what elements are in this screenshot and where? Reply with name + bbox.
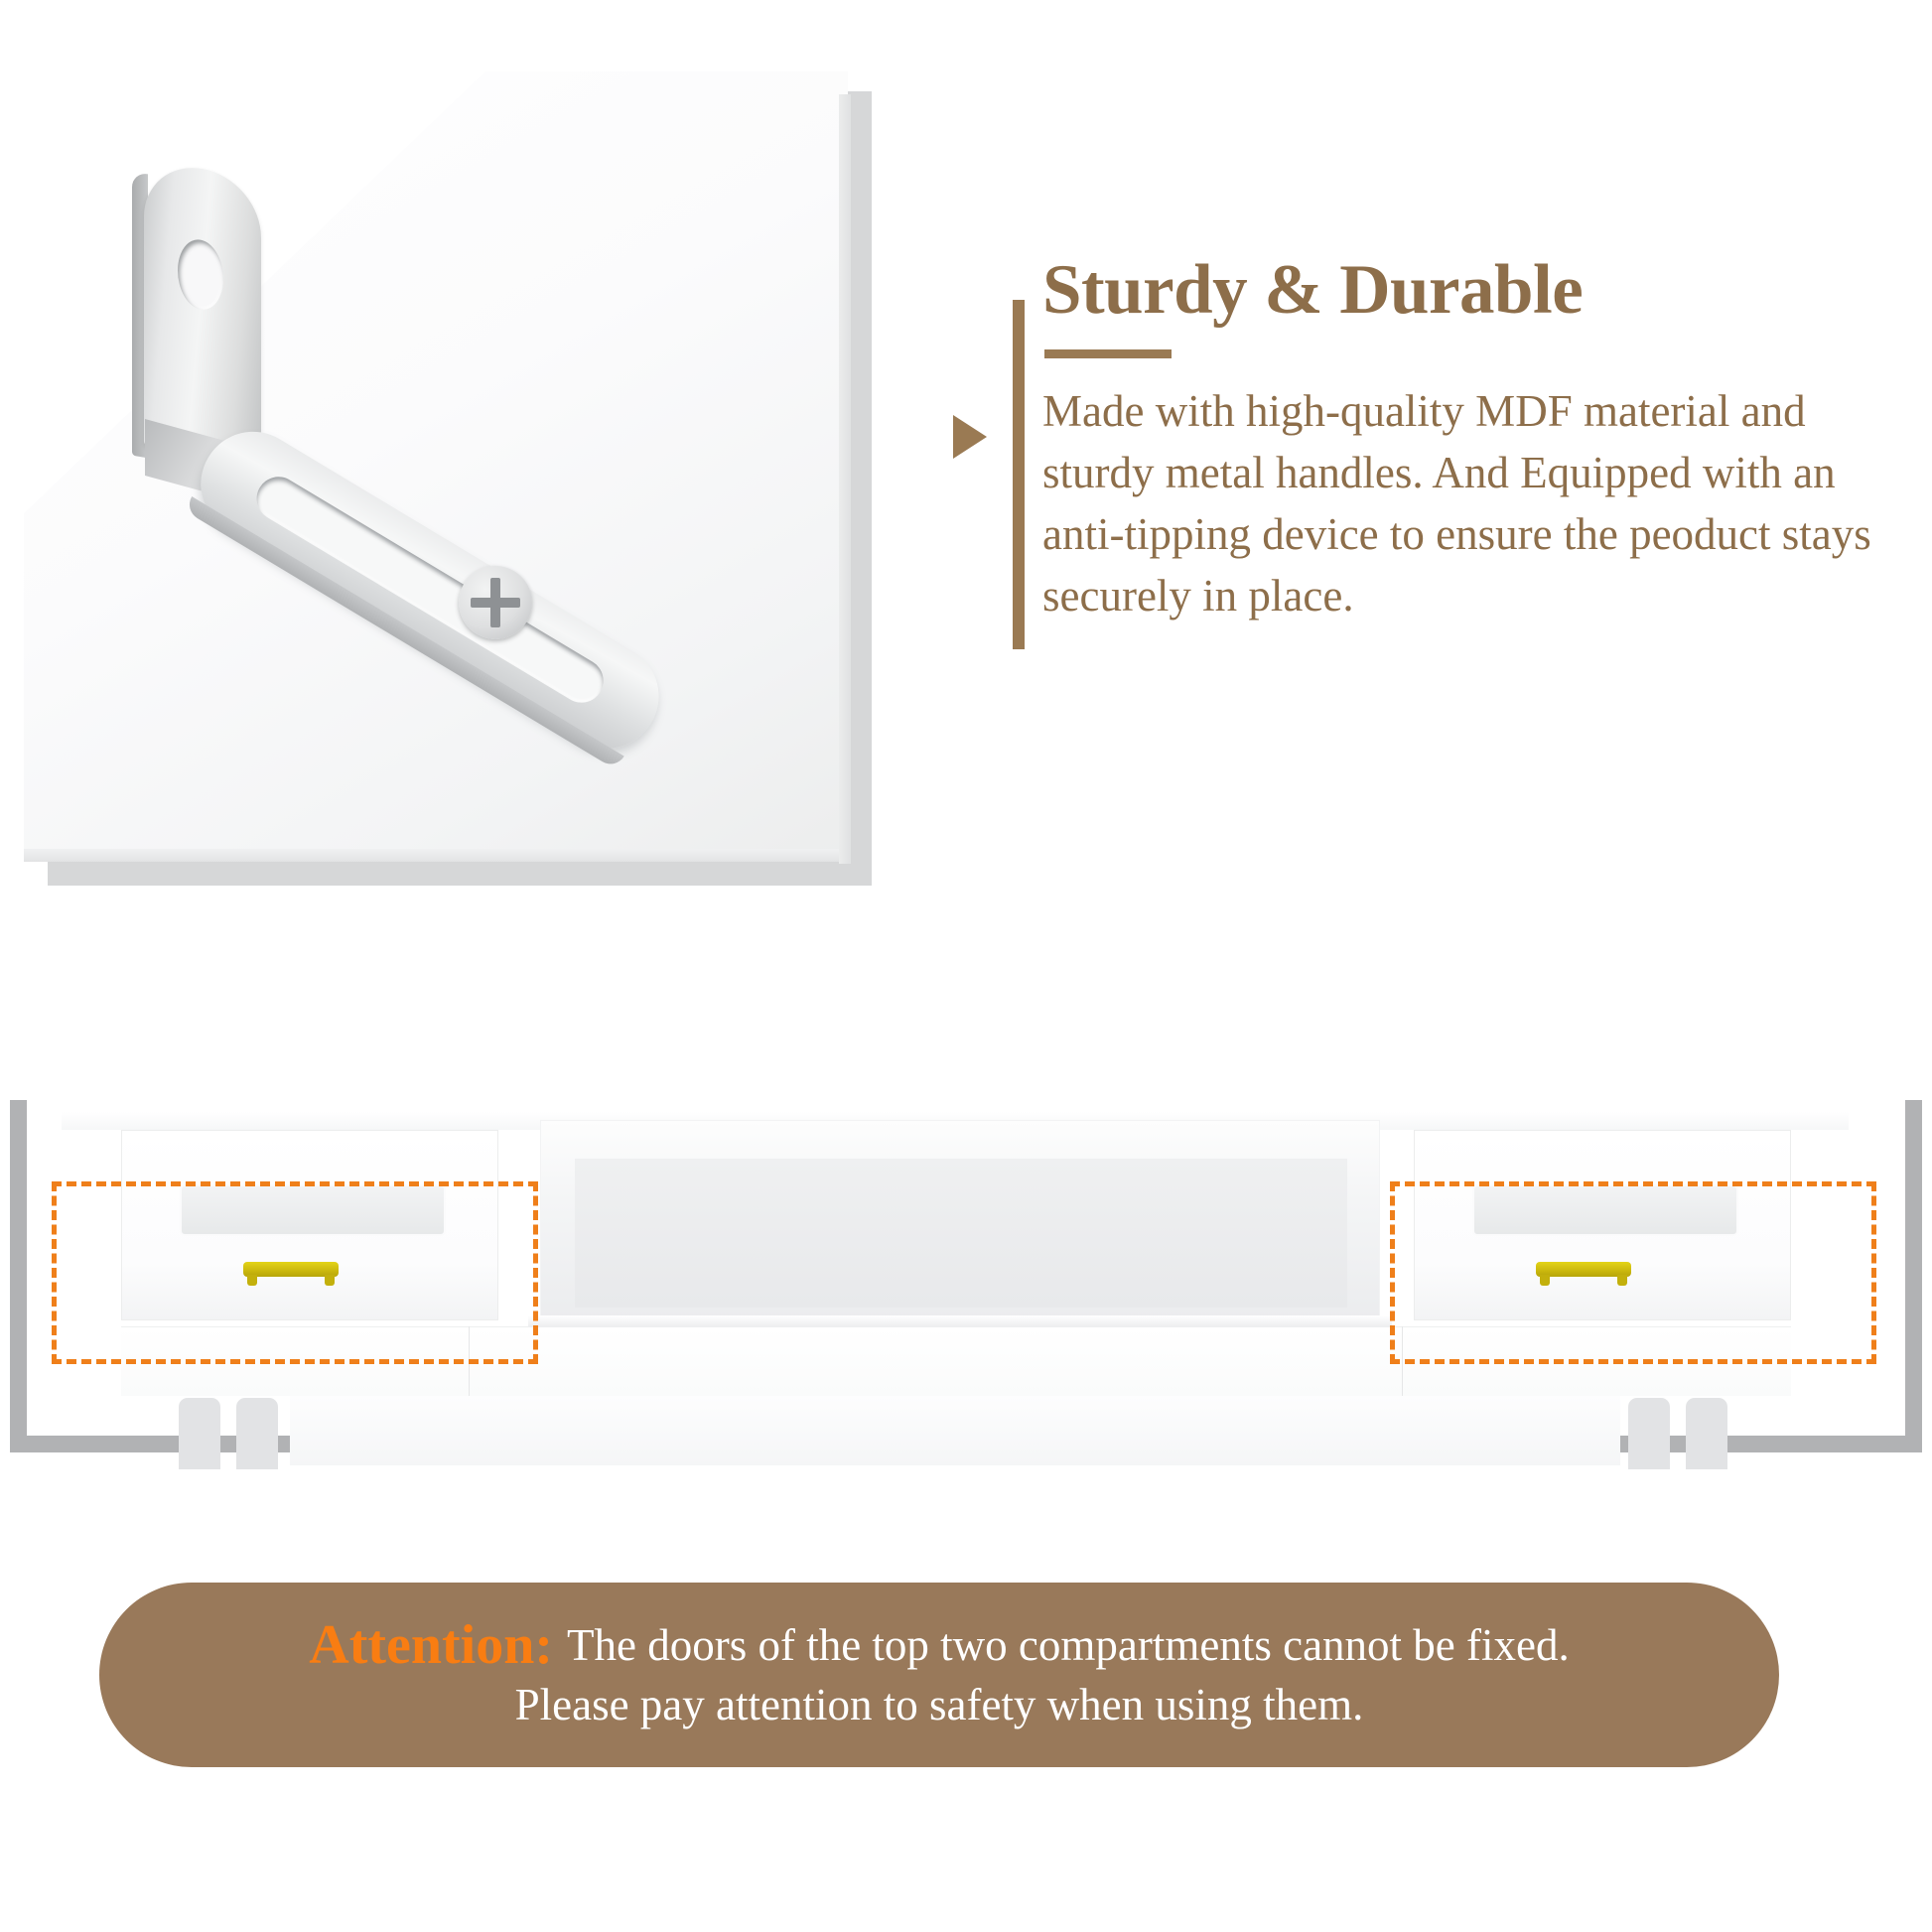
highlight-box-left-compartment xyxy=(52,1181,538,1364)
feature-description: Made with high-quality MDF material and … xyxy=(1042,380,1876,626)
metal-bracket-group xyxy=(119,169,814,725)
feature-body: Sturdy & Durable Made with high-quality … xyxy=(1042,248,1876,626)
highlight-box-right-compartment xyxy=(1390,1181,1876,1364)
board-front-edge xyxy=(24,849,848,862)
cabinet-foot-3 xyxy=(1628,1398,1670,1469)
phillips-screw-head xyxy=(459,566,532,639)
feature-callout: Sturdy & Durable Made with high-quality … xyxy=(943,248,1896,695)
room-wall-left xyxy=(10,1100,27,1446)
attention-label: Attention: xyxy=(309,1614,553,1676)
cabinet-base-plinth xyxy=(290,1396,1620,1465)
attention-text-1: The doors of the top two compartments ca… xyxy=(567,1620,1570,1670)
cabinet-foot-1 xyxy=(179,1398,220,1469)
cabinet-foot-2 xyxy=(236,1398,278,1469)
feature-underline-rule xyxy=(1044,349,1172,358)
attention-line-1: Attention:The doors of the top two compa… xyxy=(309,1615,1569,1675)
niche-back-panel xyxy=(575,1159,1347,1308)
board-right-edge xyxy=(839,94,851,864)
feature-title: Sturdy & Durable xyxy=(1042,248,1876,332)
room-wall-right xyxy=(1905,1100,1922,1446)
feature-accent-bar xyxy=(1013,300,1025,649)
screw-cross-horizontal xyxy=(471,598,520,608)
triangle-right-icon xyxy=(953,415,987,459)
anti-tipping-bracket-photo xyxy=(0,0,943,973)
attention-line-2: Please pay attention to safety when usin… xyxy=(515,1675,1364,1734)
cabinet-foot-4 xyxy=(1686,1398,1727,1469)
bracket-wall-leg xyxy=(144,159,261,468)
bracket-slotted-arm xyxy=(182,412,678,767)
attention-banner: Attention:The doors of the top two compa… xyxy=(99,1583,1779,1767)
cabinet-open-niche xyxy=(540,1120,1380,1322)
bracket-photo-stage xyxy=(0,0,943,973)
